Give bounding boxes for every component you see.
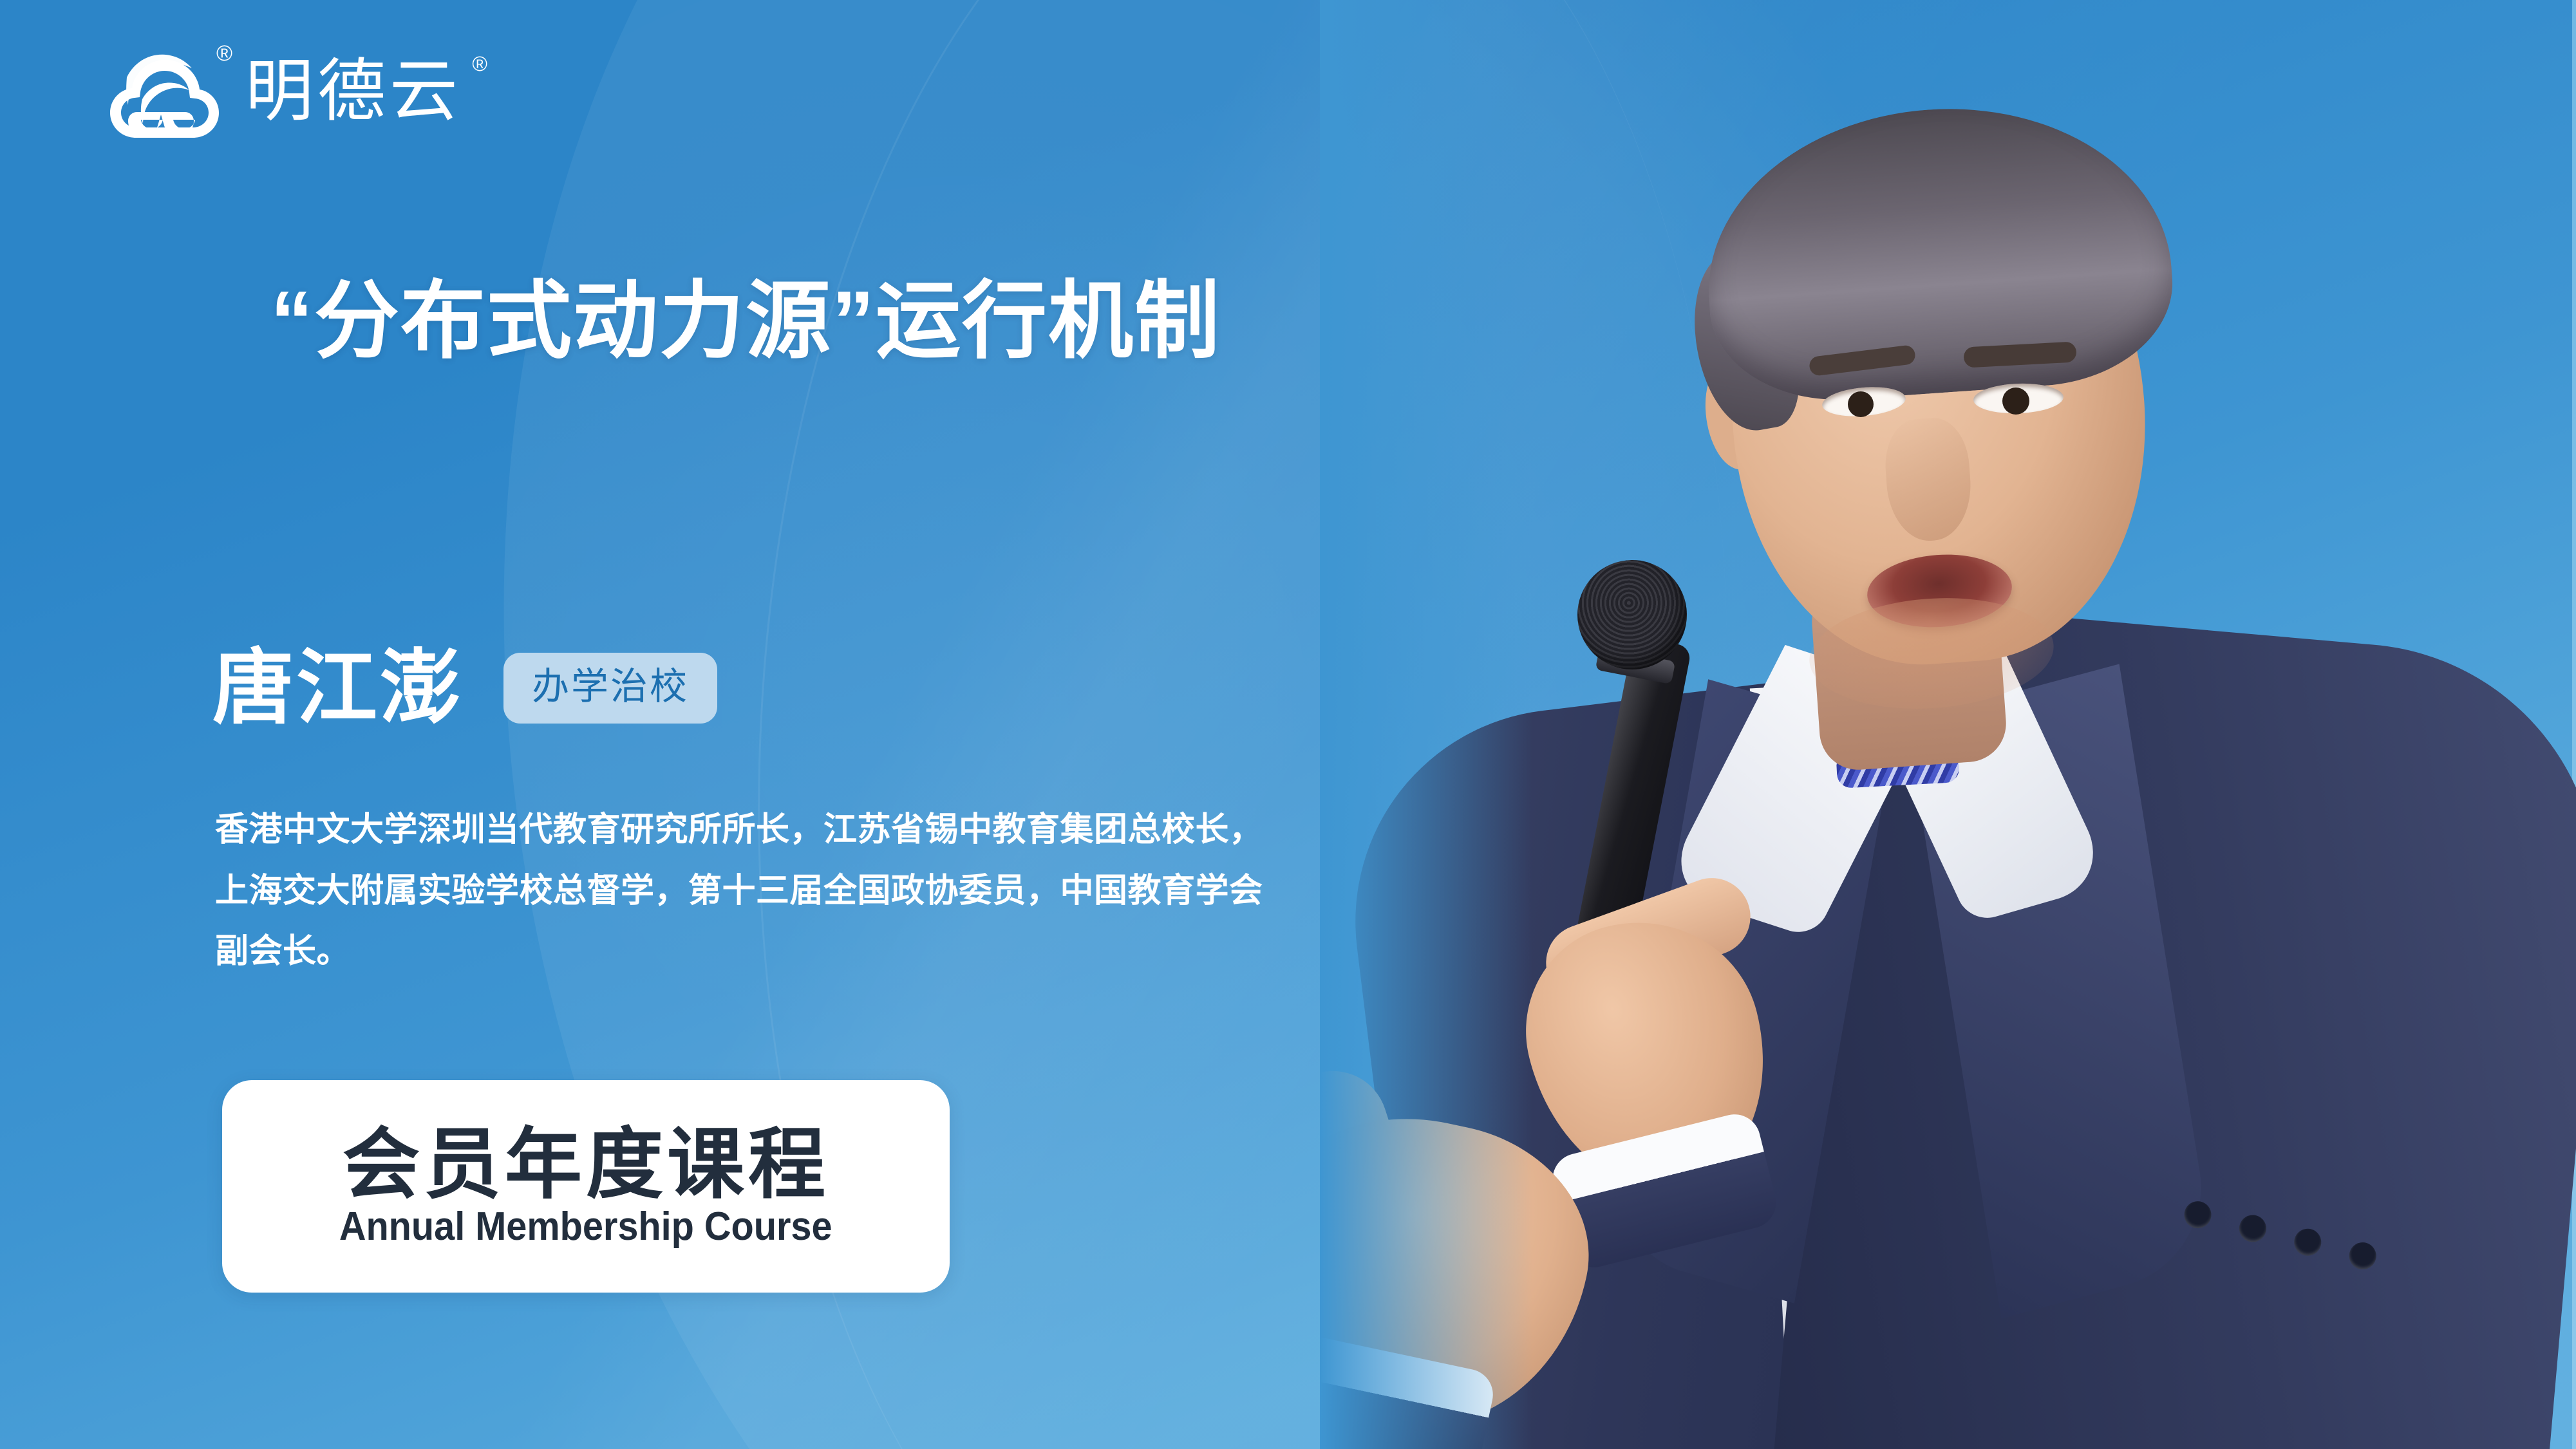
registered-icon: ® bbox=[216, 42, 232, 64]
speaker-name: 唐江澎 bbox=[212, 648, 464, 729]
iris-right bbox=[2002, 388, 2029, 415]
sleeve-button bbox=[2181, 1199, 2214, 1231]
hair bbox=[1697, 93, 2179, 408]
iris-left bbox=[1848, 391, 1874, 417]
sleeve-button bbox=[2236, 1212, 2269, 1245]
speaker-header: 唐江澎 办学治校 bbox=[212, 648, 717, 729]
bio-line: 香港中文大学深圳当代教育研究所所长，江苏省锡中教育集团总校长， bbox=[215, 799, 1477, 861]
brand-logo[interactable]: ® 明德云 ® bbox=[100, 40, 462, 143]
speaker-bio: 香港中文大学深圳当代教育研究所所长，江苏省锡中教育集团总校长， 上海交大附属实验… bbox=[215, 799, 1477, 982]
course-badge-title-cn: 会员年度课程 bbox=[343, 1126, 829, 1203]
speaker-portrait bbox=[1320, 0, 2576, 1449]
sleeve-button bbox=[2291, 1226, 2324, 1258]
page-title: “分布式动力源”运行机制 bbox=[270, 277, 1221, 366]
cloud-logo-icon: ® bbox=[100, 40, 229, 143]
bio-line: 副会长。 bbox=[215, 921, 1477, 982]
course-badge-title-en: Annual Membership Course bbox=[339, 1207, 832, 1247]
sleeve-button bbox=[2346, 1240, 2379, 1273]
course-type-badge[interactable]: 会员年度课程 Annual Membership Course bbox=[222, 1080, 950, 1293]
topic-tag-badge[interactable]: 办学治校 bbox=[503, 653, 717, 724]
registered-icon: ® bbox=[472, 53, 487, 74]
brand-wordmark: 明德云 bbox=[245, 51, 462, 131]
poster-canvas: ® 明德云 ® “分布式动力源”运行机制 唐江澎 办学治校 香港中文大学深圳当代… bbox=[0, 0, 2576, 1449]
bio-line: 上海交大附属实验学校总督学，第十三届全国政协委员，中国教育学会 bbox=[215, 861, 1477, 922]
